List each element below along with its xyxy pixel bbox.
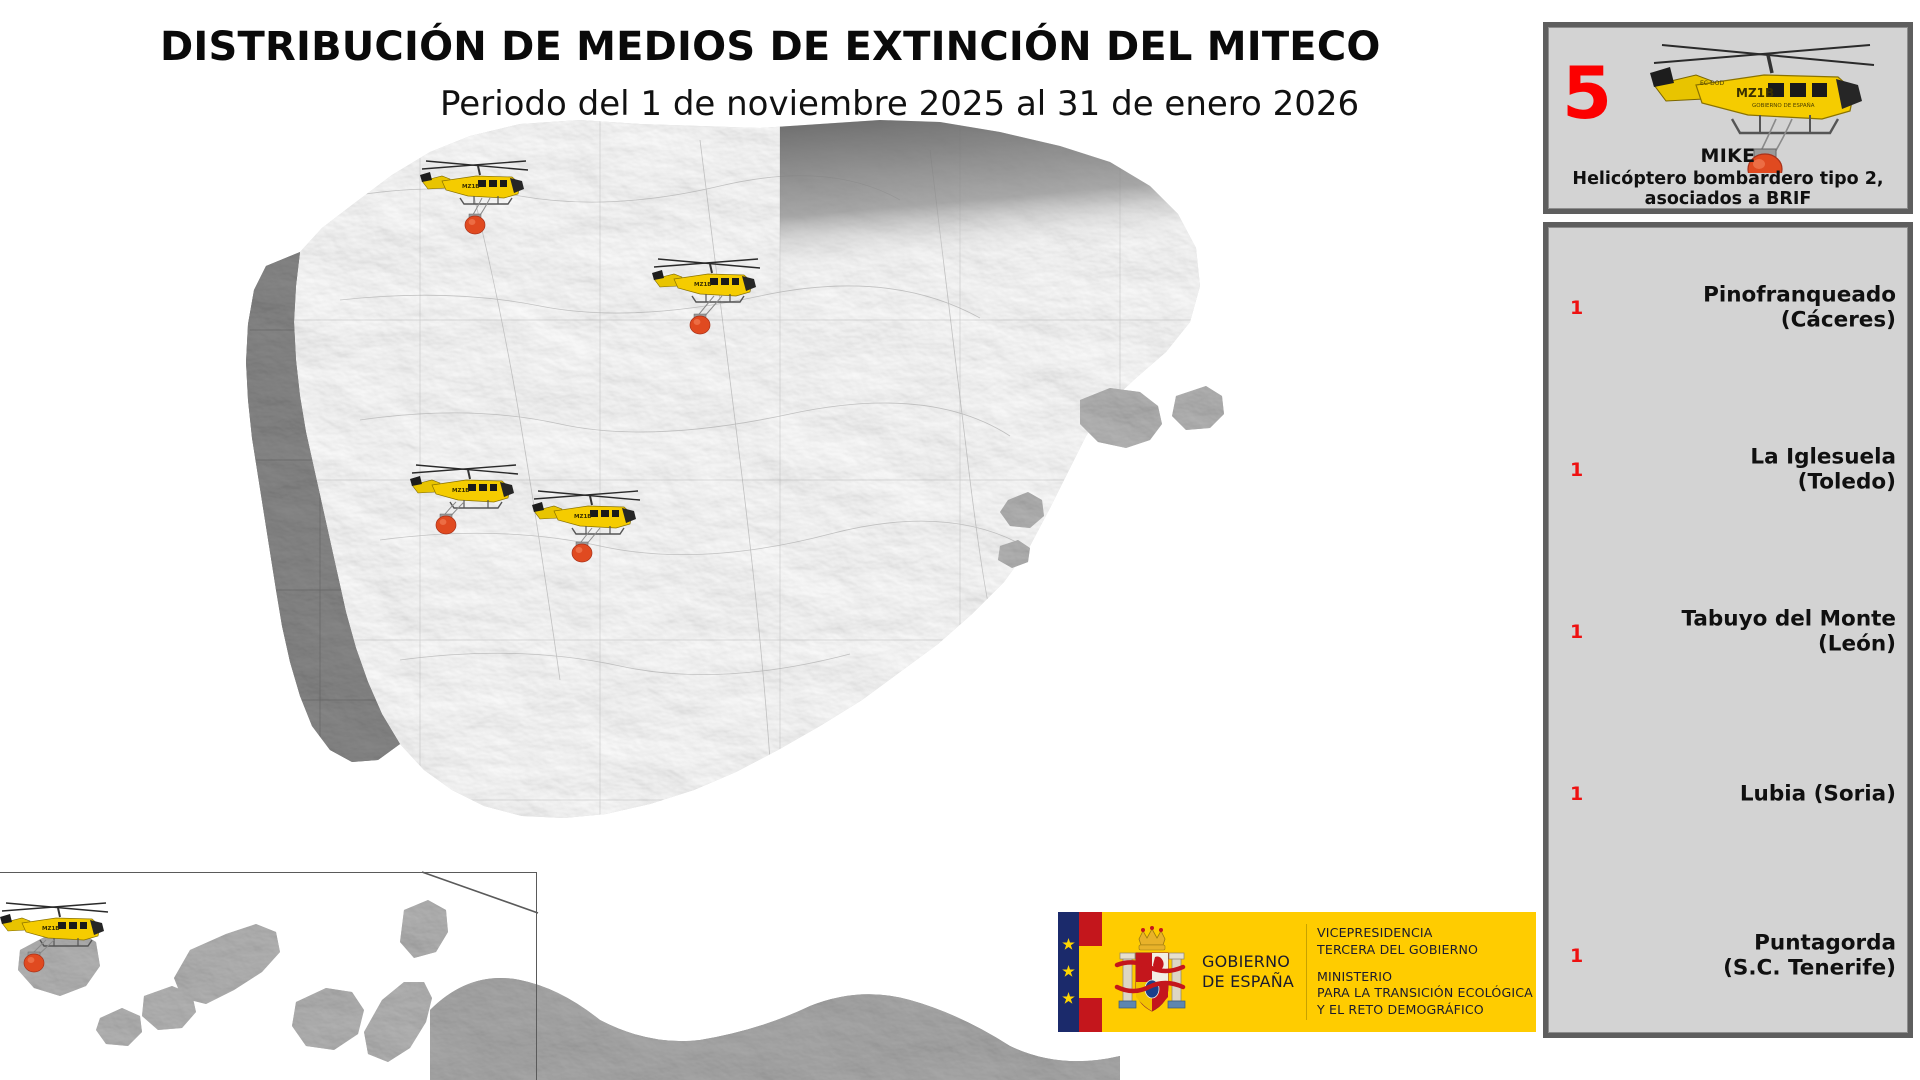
svg-text:EC-DOD: EC-DOD xyxy=(1700,80,1724,87)
legend-model-name: MIKE xyxy=(1548,145,1908,167)
base-count: 1 xyxy=(1570,945,1583,967)
base-name-line-2: (Toledo) xyxy=(1750,470,1896,495)
base-count: 1 xyxy=(1570,783,1583,805)
base-list-item-tabuyo-del-monte[interactable]: 1 Tabuyo del Monte (León) xyxy=(1548,551,1908,713)
logo-divider xyxy=(1306,924,1307,1020)
gobierno-label: GOBIERNO DE ESPAÑA xyxy=(1202,912,1306,1032)
base-name-line-1: Tabuyo del Monte xyxy=(1681,607,1896,632)
base-name: Tabuyo del Monte (León) xyxy=(1681,607,1896,658)
spain-eu-flag-icon xyxy=(1058,912,1102,1032)
base-list-item-lubia[interactable]: 1 Lubia (Soria) xyxy=(1548,713,1908,875)
base-name-line-2: (S.C. Tenerife) xyxy=(1723,956,1896,981)
base-count: 1 xyxy=(1570,621,1583,643)
base-name-line-1: La Iglesuela xyxy=(1750,445,1896,470)
title-block: DISTRIBUCIÓN DE MEDIOS DE EXTINCIÓN DEL … xyxy=(0,0,1540,135)
base-list-box: 1 Pinofranqueado (Cáceres) 1 La Iglesuel… xyxy=(1543,222,1913,1038)
base-name: Lubia (Soria) xyxy=(1740,781,1896,806)
base-list-item-pinofranqueado[interactable]: 1 Pinofranqueado (Cáceres) xyxy=(1548,227,1908,389)
svg-text:GOBIERNO DE ESPAÑA: GOBIERNO DE ESPAÑA xyxy=(1752,102,1815,109)
base-name-line-2: (Cáceres) xyxy=(1703,308,1896,333)
vicepresidencia-line-2: TERCERA DEL GOBIERNO xyxy=(1317,942,1536,959)
base-name: Pinofranqueado (Cáceres) xyxy=(1703,283,1896,334)
base-list-item-puntagorda[interactable]: 1 Puntagorda (S.C. Tenerife) xyxy=(1548,875,1908,1037)
ministerio-line-1: MINISTERIO xyxy=(1317,969,1536,986)
base-name: La Iglesuela (Toledo) xyxy=(1750,445,1896,496)
ministerio-label: VICEPRESIDENCIA TERCERA DEL GOBIERNO MIN… xyxy=(1317,912,1536,1032)
legend-header-box: 5 MZ1B EC-DOD GOBIERNO DE ESPAÑA xyxy=(1543,22,1913,214)
legend-description: Helicóptero bombardero tipo 2, asociados… xyxy=(1552,169,1904,209)
ministerio-line-3: Y EL RETO DEMOGRÁFICO xyxy=(1317,1002,1536,1019)
legend-panel: 5 MZ1B EC-DOD GOBIERNO DE ESPAÑA xyxy=(1543,22,1913,1042)
base-name-line-1: Puntagorda xyxy=(1723,931,1896,956)
base-list-item-la-iglesuela[interactable]: 1 La Iglesuela (Toledo) xyxy=(1548,389,1908,551)
base-count: 1 xyxy=(1570,459,1583,481)
base-name: Puntagorda (S.C. Tenerife) xyxy=(1723,931,1896,982)
base-name-line-1: Lubia (Soria) xyxy=(1740,781,1896,806)
spain-coat-of-arms-icon xyxy=(1102,912,1202,1032)
page-title: DISTRIBUCIÓN DE MEDIOS DE EXTINCIÓN DEL … xyxy=(160,24,1510,70)
base-count: 1 xyxy=(1570,297,1583,319)
gobierno-de-espana-logo: GOBIERNO DE ESPAÑA VICEPRESIDENCIA TERCE… xyxy=(1058,912,1536,1032)
legend-description-line-1: Helicóptero bombardero tipo 2, xyxy=(1552,169,1904,189)
base-name-line-2: (León) xyxy=(1681,632,1896,657)
logo-text-gap xyxy=(1317,959,1536,969)
canary-inset-connector xyxy=(420,855,550,915)
base-name-line-1: Pinofranqueado xyxy=(1703,283,1896,308)
vicepresidencia-line-1: VICEPRESIDENCIA xyxy=(1317,925,1536,942)
svg-text:MZ1B: MZ1B xyxy=(1736,86,1774,100)
ministerio-line-2: PARA LA TRANSICIÓN ECOLÓGICA xyxy=(1317,985,1536,1002)
page-subtitle: Periodo del 1 de noviembre 2025 al 31 de… xyxy=(440,84,1510,124)
legend-total-count: 5 xyxy=(1562,57,1612,129)
legend-description-line-2: asociados a BRIF xyxy=(1552,189,1904,209)
gobierno-line-2: DE ESPAÑA xyxy=(1202,972,1306,992)
gobierno-line-1: GOBIERNO xyxy=(1202,952,1306,972)
